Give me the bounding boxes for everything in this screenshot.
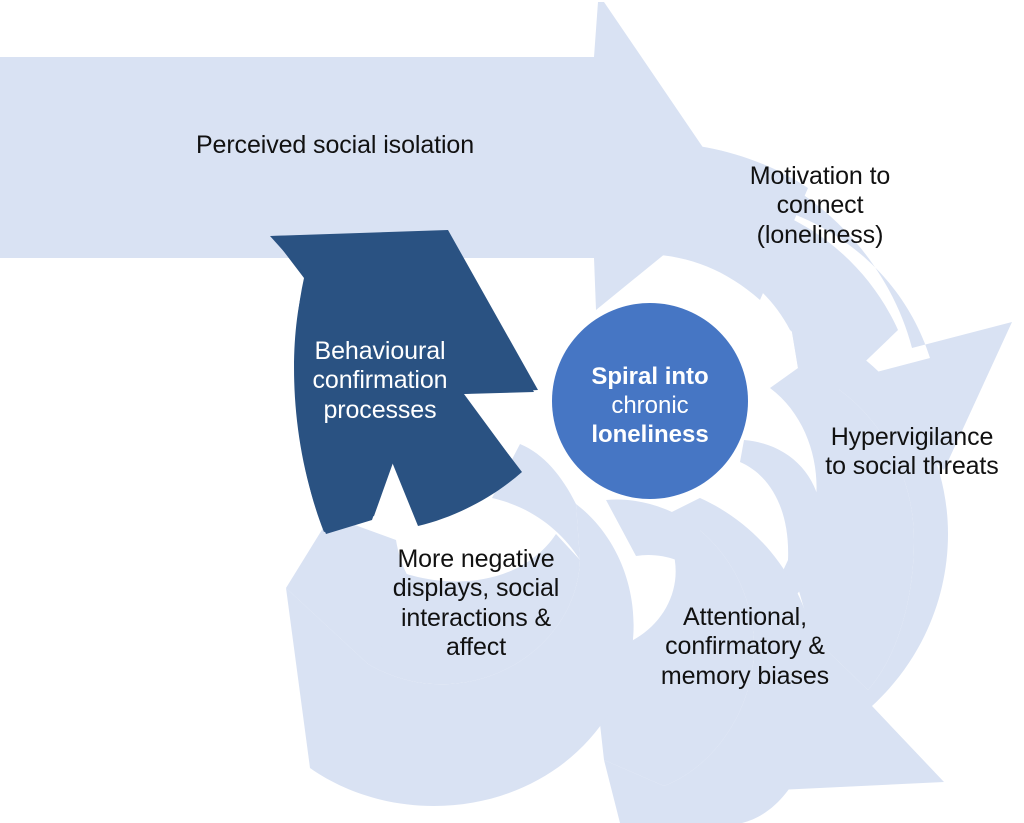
hub-label-line1: Spiral into	[553, 363, 747, 392]
segment-label-hypervigilance: Hypervigilance to social threats	[806, 423, 1018, 482]
hub-label-line2: chronic	[553, 392, 747, 421]
hub-label-line3: loneliness	[553, 421, 747, 450]
banner-label-perceived-social-isolation: Perceived social isolation	[110, 131, 560, 160]
hub-label: Spiral into chronic loneliness	[553, 363, 747, 449]
segment-label-motivation-to-connect: Motivation to connect (loneliness)	[700, 162, 940, 250]
diagram-canvas: Perceived social isolation Motivation to…	[0, 0, 1024, 823]
segment-label-more-negative-displays: More negative displays, social interacti…	[362, 545, 590, 662]
segment-label-attentional-biases: Attentional, confirmatory & memory biase…	[630, 603, 860, 691]
segment-label-behavioural-confirmation: Behavioural confirmation processes	[290, 337, 470, 425]
spiral-diagram-graphic	[0, 0, 1024, 823]
